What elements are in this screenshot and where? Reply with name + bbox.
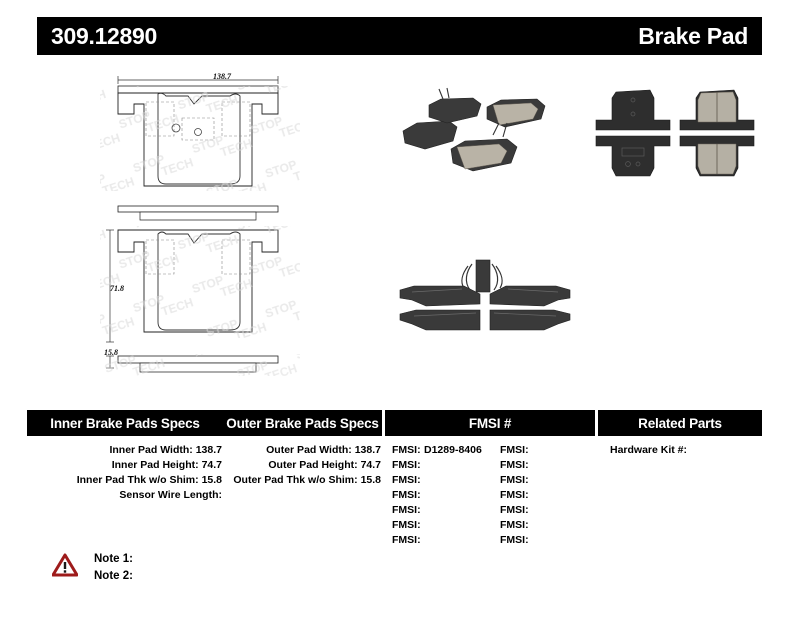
fmsi-row: FMSI: FMSI:	[392, 473, 595, 488]
dimension-label-thickness: 15.8	[104, 348, 118, 357]
fmsi-left-entry: FMSI:	[392, 458, 500, 473]
drawings-area: STOP TECH	[0, 58, 800, 398]
spec-label: Inner Pad Thk w/o Shim:	[77, 474, 199, 486]
product-photo-angled-set	[395, 83, 575, 188]
table-header-fmsi: FMSI #	[385, 410, 595, 436]
fmsi-column: FMSI: FMSI: FMSI: FMSI: FMSI: FMSI: FMSI…	[385, 443, 595, 548]
fmsi-left-entry: FMSI:	[392, 518, 500, 533]
spec-row: Sensor Wire Length:	[27, 488, 223, 503]
spec-value: 15.8	[202, 474, 222, 486]
spec-label: Outer Pad Height:	[268, 459, 357, 471]
note-item-2: Note 2:	[94, 568, 133, 585]
note-item-1: Note 1:	[94, 551, 133, 568]
table-body: Inner Pad Width: 138.7 Inner Pad Height:…	[27, 436, 762, 548]
related-parts-row: Hardware Kit #:	[610, 443, 762, 458]
fmsi-left-entry: FMSI:	[392, 503, 500, 518]
spec-label: Sensor Wire Length:	[119, 489, 222, 501]
spec-label: Inner Pad Height:	[112, 459, 199, 471]
fmsi-left-entry: FMSI:	[392, 488, 500, 503]
fmsi-left-entry: FMSI:	[392, 533, 500, 548]
spec-value: 15.8	[361, 474, 381, 486]
fmsi-right-entry: FMSI:	[500, 443, 529, 458]
technical-drawings: STOP TECH	[100, 66, 360, 396]
inner-specs-column: Inner Pad Width: 138.7 Inner Pad Height:…	[27, 443, 223, 548]
spec-label: Outer Pad Thk w/o Shim:	[233, 474, 357, 486]
fmsi-row: FMSI: FMSI:	[392, 488, 595, 503]
fmsi-row: FMSI: FMSI:	[392, 458, 595, 473]
product-header-bar: 309.12890 Brake Pad	[37, 17, 762, 55]
spec-row: Outer Pad Height: 74.7	[223, 458, 382, 473]
warning-triangle-icon	[52, 553, 78, 577]
related-parts-column: Hardware Kit #:	[598, 443, 762, 548]
fmsi-row: FMSI: FMSI:	[392, 503, 595, 518]
spec-value: 138.7	[196, 444, 222, 456]
spec-row: Inner Pad Height: 74.7	[27, 458, 223, 473]
outer-specs-column: Outer Pad Width: 138.7 Outer Pad Height:…	[223, 443, 382, 548]
fmsi-right-entry: FMSI:	[500, 533, 529, 548]
table-header-inner-specs: Inner Brake Pads Specs	[27, 410, 223, 436]
fmsi-primary-value: D1289-8406	[424, 443, 482, 458]
spec-row: Inner Pad Width: 138.7	[27, 443, 223, 458]
table-header-related-parts: Related Parts	[598, 410, 762, 436]
spec-value: 74.7	[361, 459, 381, 471]
specifications-table: Inner Brake Pads Specs Outer Brake Pads …	[27, 410, 762, 548]
table-header-row: Inner Brake Pads Specs Outer Brake Pads …	[27, 410, 762, 436]
fmsi-left-entry: FMSI:	[392, 473, 500, 488]
dimension-label-height: 71.8	[110, 284, 124, 293]
notes-section: Note 1: Note 2:	[52, 551, 133, 585]
spec-row: Outer Pad Width: 138.7	[223, 443, 382, 458]
spec-value: 138.7	[355, 444, 381, 456]
fmsi-row: FMSI: FMSI:	[392, 443, 595, 458]
product-type-label: Brake Pad	[638, 25, 748, 48]
fmsi-right-entry: FMSI:	[500, 458, 529, 473]
fmsi-right-entry: FMSI:	[500, 473, 529, 488]
table-header-outer-specs: Outer Brake Pads Specs	[223, 410, 382, 436]
spec-row: Inner Pad Thk w/o Shim: 15.8	[27, 473, 223, 488]
fmsi-right-entry: FMSI:	[500, 488, 529, 503]
spec-label: Inner Pad Width:	[109, 444, 192, 456]
product-photo-flat-set	[592, 84, 762, 186]
fmsi-right-entry: FMSI:	[500, 518, 529, 533]
fmsi-right-entry: FMSI:	[500, 503, 529, 518]
spec-label: Outer Pad Width:	[266, 444, 352, 456]
product-photo-edge-view	[392, 248, 577, 343]
part-number: 309.12890	[51, 25, 157, 48]
dimension-label-width: 138.7	[213, 72, 231, 81]
fmsi-row: FMSI: FMSI:	[392, 518, 595, 533]
note-lines: Note 1: Note 2:	[94, 551, 133, 585]
spec-row: Outer Pad Thk w/o Shim: 15.8	[223, 473, 382, 488]
spec-value: 74.7	[202, 459, 222, 471]
fmsi-row: FMSI: FMSI:	[392, 533, 595, 548]
